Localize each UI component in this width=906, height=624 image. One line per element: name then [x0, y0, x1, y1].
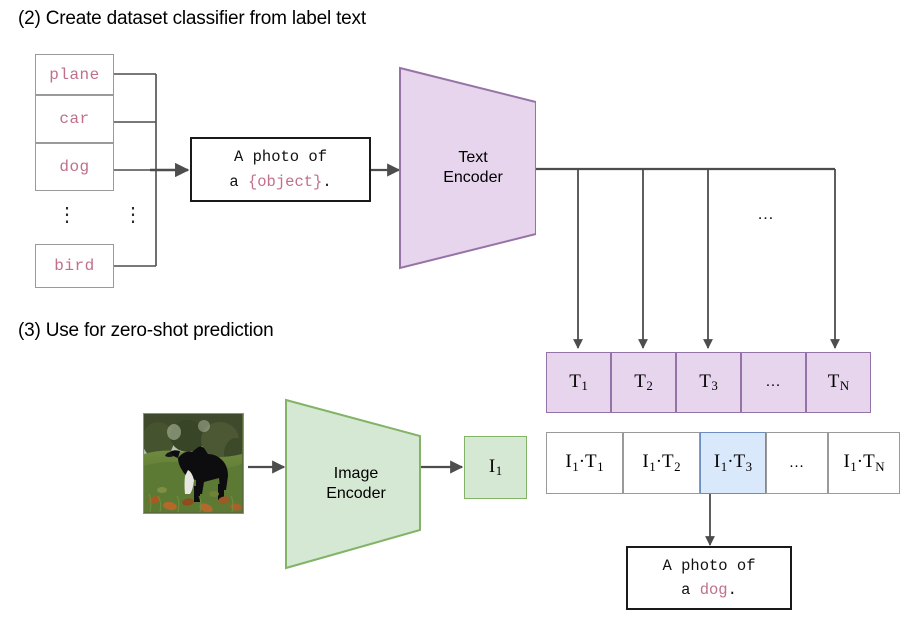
label-list-vertical-ellipsis-left: ⋮: [60, 200, 74, 230]
text-embedding-cell-2[interactable]: T2: [611, 352, 676, 413]
prompt-template-box: A photo of a {object}.: [190, 137, 371, 202]
label-item-text: plane: [49, 66, 100, 84]
label-item-dog[interactable]: dog: [35, 143, 114, 191]
cell-label: T1: [569, 371, 588, 395]
cell-label: T3: [699, 371, 718, 395]
label-item-plane[interactable]: plane: [35, 54, 114, 95]
cell-label: I1·T2: [642, 451, 680, 475]
prediction-slot: dog: [700, 581, 728, 599]
similarity-cell-2[interactable]: I1·T2: [623, 432, 700, 494]
text-embedding-cell-1[interactable]: T1: [546, 352, 611, 413]
input-photo[interactable]: [143, 413, 244, 514]
label-item-text: car: [59, 110, 89, 128]
prediction-output-box: A photo of a dog.: [626, 546, 792, 610]
similarity-cell-n[interactable]: I1·TN: [828, 432, 900, 494]
label-item-bird[interactable]: bird: [35, 244, 114, 288]
prediction-line-1: A photo of: [662, 554, 755, 578]
step-3-title: (3) Use for zero-shot prediction: [18, 320, 273, 342]
label-bracket: [114, 74, 185, 266]
prediction-suffix: .: [728, 581, 737, 599]
similarity-cell-3-selected[interactable]: I1·T3: [700, 432, 766, 494]
cell-label: T2: [634, 371, 653, 395]
text-embedding-cell-3[interactable]: T3: [676, 352, 741, 413]
prompt-template-line-2: a {object}.: [229, 170, 331, 194]
similarity-cell-ellipsis: …: [766, 432, 828, 494]
label-item-text: dog: [59, 158, 89, 176]
step-2-title: (2) Create dataset classifier from label…: [18, 8, 366, 30]
image-encoder-label: Image Encoder: [326, 464, 386, 504]
bus-drop-arrows: [578, 169, 835, 348]
cell-label: I1·T3: [714, 451, 752, 475]
cell-label: I1·T1: [565, 451, 603, 475]
prediction-line-2: a dog.: [681, 578, 737, 602]
cell-label: TN: [828, 371, 849, 395]
diagram-canvas: (2) Create dataset classifier from label…: [0, 0, 906, 624]
cell-label: …: [766, 374, 782, 391]
photo-content: [144, 414, 242, 512]
cell-label: …: [789, 455, 805, 472]
similarity-cell-1[interactable]: I1·T1: [546, 432, 623, 494]
text-embedding-cell-n[interactable]: TN: [806, 352, 871, 413]
bus-ellipsis: …: [757, 205, 775, 222]
prediction-prefix: a: [681, 581, 700, 599]
prompt-template-prefix: a: [229, 173, 248, 191]
label-item-car[interactable]: car: [35, 95, 114, 143]
prompt-template-line-1: A photo of: [234, 145, 327, 169]
text-embedding-cell-ellipsis: …: [741, 352, 806, 413]
cell-label: I1·TN: [843, 451, 884, 475]
image-encoder-block[interactable]: Image Encoder: [282, 396, 424, 572]
cell-label: I1: [489, 456, 502, 480]
image-embedding-cell[interactable]: I1: [464, 436, 527, 499]
prompt-template-suffix: .: [322, 173, 331, 191]
prompt-template-slot: {object}: [248, 173, 322, 191]
text-encoder-label: Text Encoder: [443, 148, 503, 188]
label-list-vertical-ellipsis-right: ⋮: [126, 200, 140, 230]
text-encoder-block[interactable]: Text Encoder: [396, 64, 536, 272]
label-item-text: bird: [54, 257, 94, 275]
